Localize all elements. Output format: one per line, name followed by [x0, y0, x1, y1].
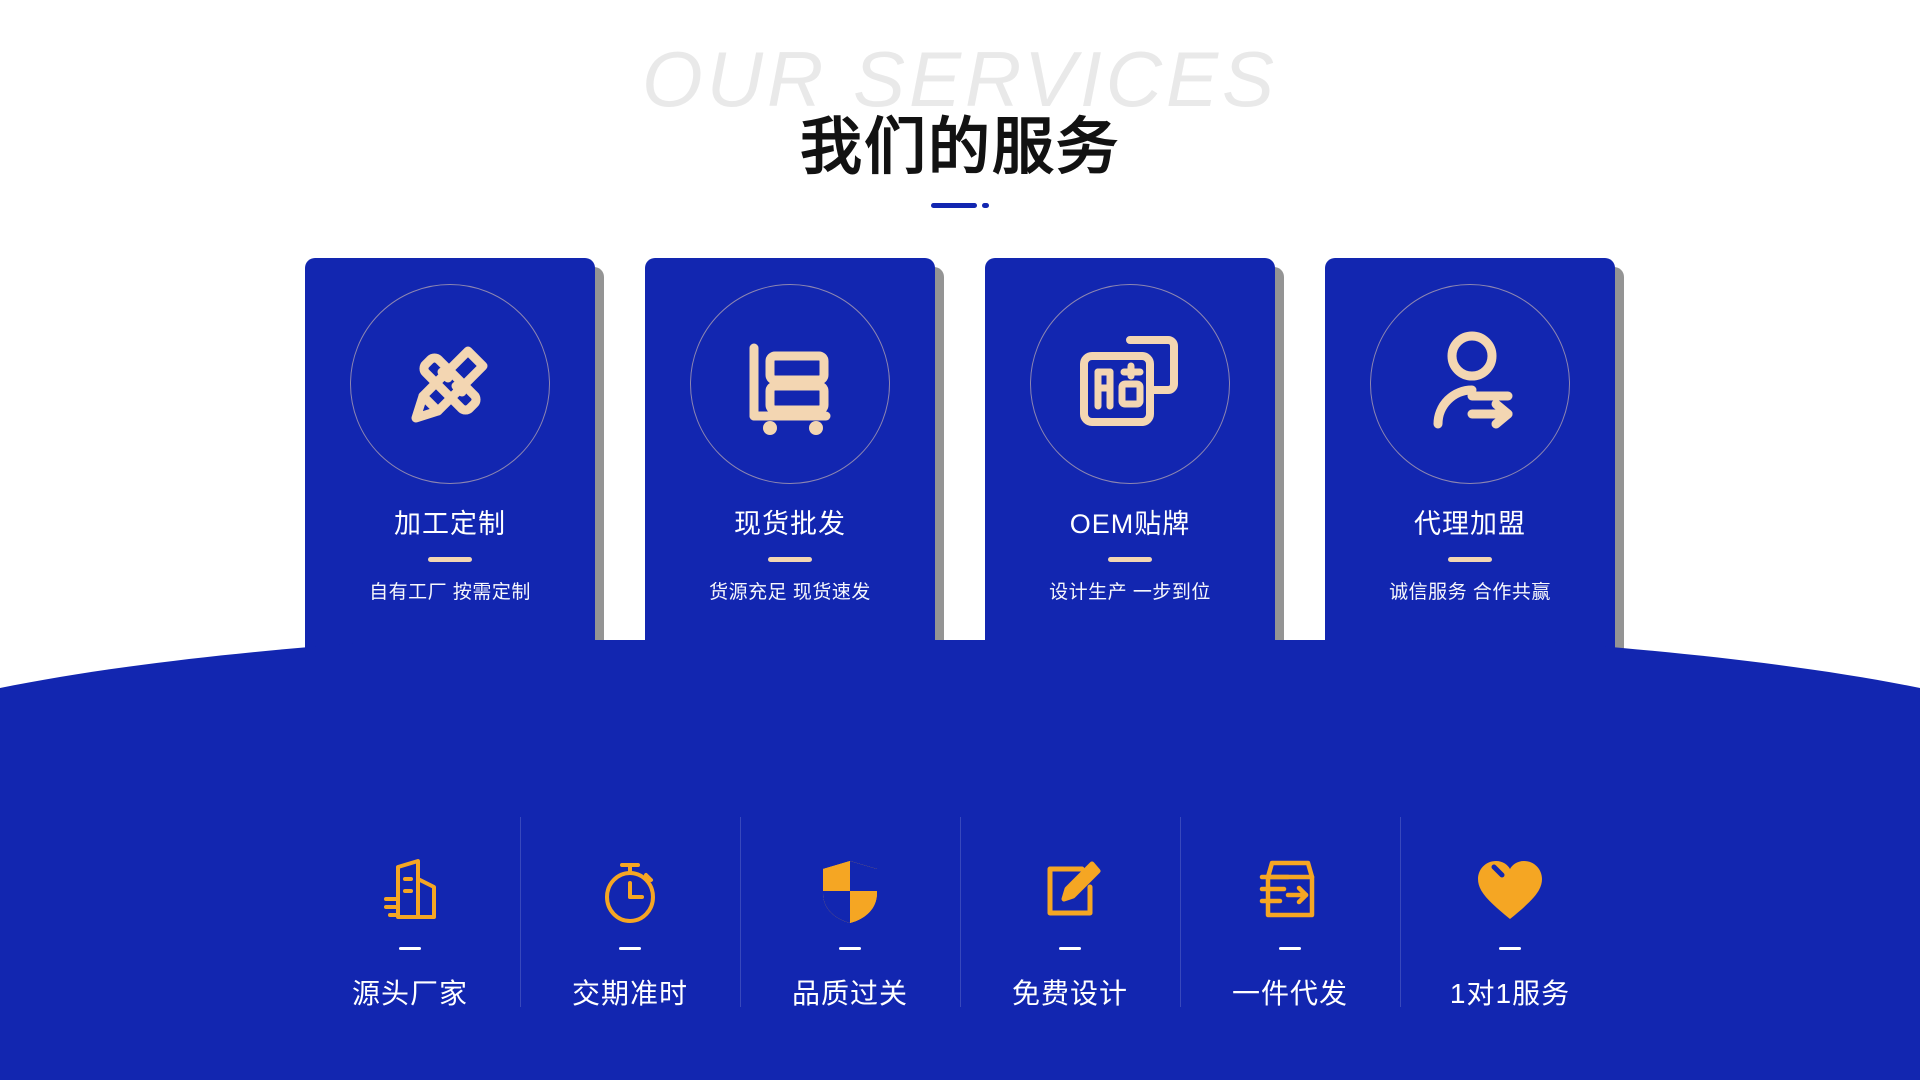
card-divider [1448, 557, 1492, 562]
feature-item-quality[interactable]: 品质过关 [740, 845, 960, 1012]
card-subtitle: 自有工厂 按需定制 [369, 577, 531, 604]
feature-dash [839, 947, 861, 950]
feature-dash [1059, 947, 1081, 950]
service-cards-row: 加工定制 自有工厂 按需定制 [0, 258, 1920, 658]
our-services-banner: OUR SERVICES 我们的服务 [0, 0, 1920, 1080]
label-tag-icon [1068, 322, 1192, 446]
shield-icon [815, 845, 885, 937]
card-title: 现货批发 [734, 502, 846, 541]
feature-label: 品质过关 [792, 972, 908, 1012]
box-arrow-icon [1254, 845, 1326, 937]
feature-item-ontime[interactable]: 交期准时 [520, 845, 740, 1012]
feature-item-factory[interactable]: 源头厂家 [300, 845, 520, 1012]
stopwatch-icon [594, 845, 666, 937]
service-card-oem-branding[interactable]: OEM贴牌 设计生产 一步到位 [985, 258, 1275, 658]
trolley-cart-icon [730, 324, 850, 444]
card-title: OEM贴牌 [1070, 502, 1191, 541]
feature-dash [1279, 947, 1301, 950]
card-divider [1108, 557, 1152, 562]
title-accent-underline [931, 203, 989, 208]
header-section: OUR SERVICES 我们的服务 [0, 0, 1920, 230]
feature-item-dropship[interactable]: 一件代发 [1180, 845, 1400, 1012]
feature-dash [399, 947, 421, 950]
feature-label: 免费设计 [1012, 972, 1128, 1012]
pencil-ruler-icon [390, 324, 510, 444]
page-title: 我们的服务 [0, 96, 1920, 186]
factory-building-icon [374, 845, 446, 937]
feature-dash [1499, 947, 1521, 950]
card-divider [428, 557, 472, 562]
service-card-stock-wholesale[interactable]: 现货批发 货源充足 现货速发 [645, 258, 935, 658]
card-subtitle: 诚信服务 合作共赢 [1389, 577, 1551, 604]
card-icon-circle [690, 284, 890, 484]
card-subtitle: 设计生产 一步到位 [1049, 577, 1211, 604]
service-card-agent-franchise[interactable]: 代理加盟 诚信服务 合作共赢 [1325, 258, 1615, 658]
feature-item-free-design[interactable]: 免费设计 [960, 845, 1180, 1012]
card-icon-circle [1030, 284, 1230, 484]
card-title: 加工定制 [394, 502, 506, 541]
feature-dash [619, 947, 641, 950]
feature-label: 一件代发 [1232, 972, 1348, 1012]
service-card-processing-custom[interactable]: 加工定制 自有工厂 按需定制 [305, 258, 595, 658]
feature-strip: 源头厂家 交期准时 [0, 845, 1920, 1012]
accent-bar [931, 203, 977, 208]
agent-person-icon [1410, 324, 1530, 444]
feature-label: 交期准时 [572, 972, 688, 1012]
card-divider [768, 557, 812, 562]
accent-dot [982, 203, 989, 208]
feature-label: 1对1服务 [1450, 972, 1570, 1012]
feature-item-one-on-one[interactable]: 1对1服务 [1400, 845, 1620, 1012]
edit-square-icon [1034, 845, 1106, 937]
feature-label: 源头厂家 [352, 972, 468, 1012]
card-icon-circle [350, 284, 550, 484]
card-icon-circle [1370, 284, 1570, 484]
heart-icon [1474, 845, 1546, 937]
card-title: 代理加盟 [1414, 502, 1526, 541]
card-subtitle: 货源充足 现货速发 [709, 577, 871, 604]
